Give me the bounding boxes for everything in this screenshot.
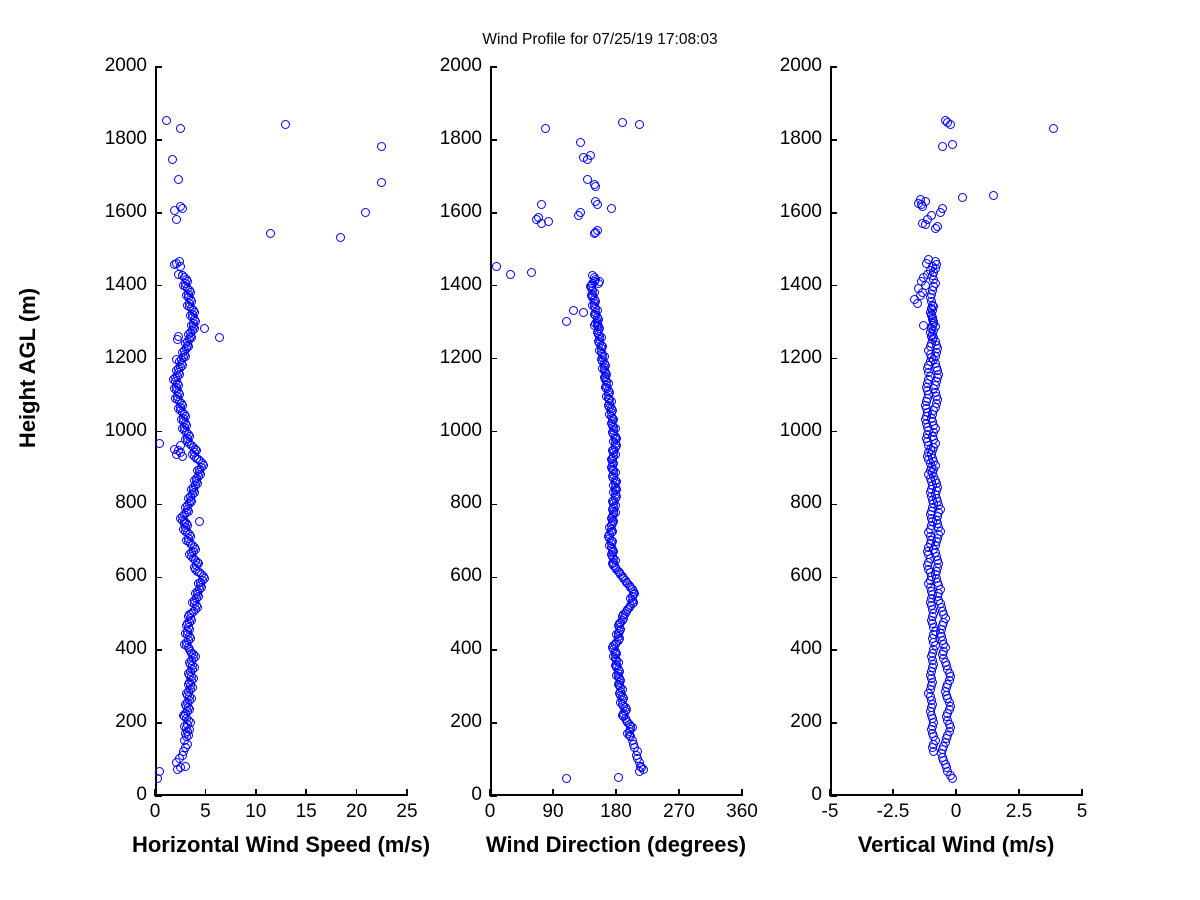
- y-tick-mark: [490, 577, 497, 579]
- data-point-marker: [377, 178, 386, 187]
- data-point-marker: [929, 302, 938, 311]
- y-tick-label: 200: [77, 711, 147, 733]
- data-point-marker: [989, 191, 998, 200]
- y-tick-mark: [155, 139, 162, 141]
- y-tick-label: 2000: [752, 55, 822, 77]
- y-tick-label: 1400: [412, 274, 482, 296]
- data-point-marker: [544, 217, 553, 226]
- data-point-marker: [576, 138, 585, 147]
- data-point-marker: [569, 306, 578, 315]
- y-tick-label: 600: [77, 565, 147, 587]
- data-point-marker: [583, 175, 592, 184]
- y-tick-mark: [155, 212, 162, 214]
- y-tick-label: 1000: [752, 420, 822, 442]
- x-axis-title: Vertical Wind (m/s): [858, 832, 1055, 858]
- x-tick-mark: [615, 789, 617, 796]
- panel-vertical-wind: 0200400600800100012001400160018002000-5-…: [830, 67, 1082, 796]
- x-tick-label: 0: [150, 801, 161, 823]
- y-tick-label: 200: [752, 711, 822, 733]
- data-point-marker: [174, 175, 183, 184]
- data-point-marker: [361, 208, 370, 217]
- y-tick-mark: [830, 431, 837, 433]
- y-tick-mark: [830, 66, 837, 68]
- x-tick-label: 180: [600, 801, 632, 823]
- x-tick-mark: [154, 789, 156, 796]
- x-tick-mark: [255, 789, 257, 796]
- wind-profile-figure: Wind Profile for 07/25/19 17:08:03 Heigh…: [0, 0, 1200, 900]
- data-point-marker: [919, 321, 928, 330]
- y-axis-title: Height AGL (m): [15, 108, 41, 628]
- data-point-marker: [492, 262, 501, 271]
- data-point-marker: [174, 270, 183, 279]
- y-tick-mark: [830, 795, 837, 797]
- x-tick-mark: [678, 789, 680, 796]
- y-tick-label: 1400: [752, 274, 822, 296]
- data-point-marker: [595, 277, 604, 286]
- y-tick-label: 1600: [77, 201, 147, 223]
- y-tick-label: 1800: [77, 128, 147, 150]
- y-tick-mark: [490, 139, 497, 141]
- data-point-marker: [562, 317, 571, 326]
- y-tick-mark: [490, 358, 497, 360]
- data-point-marker: [541, 124, 550, 133]
- data-point-marker: [579, 308, 588, 317]
- y-tick-mark: [830, 577, 837, 579]
- y-tick-label: 800: [77, 492, 147, 514]
- data-point-marker: [618, 118, 627, 127]
- y-tick-label: 600: [752, 565, 822, 587]
- data-point-marker: [281, 120, 290, 129]
- data-point-marker: [614, 773, 623, 782]
- x-tick-label: 15: [296, 801, 317, 823]
- plot-area-wind-direction: [490, 67, 742, 796]
- y-tick-mark: [490, 504, 497, 506]
- data-point-marker: [537, 200, 546, 209]
- y-tick-label: 2000: [77, 55, 147, 77]
- x-tick-label: 2.5: [1006, 801, 1032, 823]
- y-tick-label: 800: [412, 492, 482, 514]
- panel-wind-direction: 0200400600800100012001400160018002000090…: [490, 67, 742, 796]
- y-tick-mark: [155, 795, 162, 797]
- x-tick-label: -2.5: [877, 801, 910, 823]
- y-tick-label: 1800: [752, 128, 822, 150]
- y-tick-label: 1200: [77, 347, 147, 369]
- y-tick-label: 1200: [412, 347, 482, 369]
- y-tick-mark: [830, 504, 837, 506]
- data-point-marker: [938, 142, 947, 151]
- x-tick-label: 90: [542, 801, 563, 823]
- x-axis-title: Horizontal Wind Speed (m/s): [132, 832, 430, 858]
- y-tick-label: 1000: [77, 420, 147, 442]
- data-point-marker: [155, 767, 164, 776]
- y-tick-label: 800: [752, 492, 822, 514]
- data-point-marker: [562, 774, 571, 783]
- y-tick-mark: [490, 722, 497, 724]
- data-point-marker: [586, 151, 595, 160]
- y-tick-label: 400: [752, 638, 822, 660]
- y-tick-label: 400: [77, 638, 147, 660]
- data-point-marker: [916, 195, 925, 204]
- data-point-marker: [162, 116, 171, 125]
- x-tick-label: 0: [951, 801, 962, 823]
- x-tick-label: 270: [663, 801, 695, 823]
- data-point-marker: [635, 120, 644, 129]
- data-point-marker: [195, 517, 204, 526]
- x-tick-mark: [552, 789, 554, 796]
- data-point-marker: [1049, 124, 1058, 133]
- y-tick-mark: [830, 358, 837, 360]
- x-tick-mark: [829, 789, 831, 796]
- data-point-marker: [336, 233, 345, 242]
- data-point-marker: [593, 226, 602, 235]
- x-tick-mark: [741, 789, 743, 796]
- y-tick-mark: [830, 139, 837, 141]
- data-point-marker: [927, 211, 936, 220]
- y-tick-mark: [830, 212, 837, 214]
- y-tick-label: 1200: [752, 347, 822, 369]
- plot-area-horizontal-wind-speed: [155, 67, 407, 796]
- data-point-marker: [576, 208, 585, 217]
- data-point-marker: [176, 124, 185, 133]
- y-tick-mark: [490, 66, 497, 68]
- data-point-marker: [266, 229, 275, 238]
- y-tick-mark: [490, 431, 497, 433]
- data-point-marker: [178, 452, 187, 461]
- x-tick-mark: [305, 789, 307, 796]
- data-point-marker: [200, 324, 209, 333]
- data-point-marker: [607, 204, 616, 213]
- data-point-marker: [591, 197, 600, 206]
- y-tick-label: 1600: [412, 201, 482, 223]
- x-tick-mark: [406, 789, 408, 796]
- data-point-marker: [155, 439, 164, 448]
- y-tick-label: 0: [752, 784, 822, 806]
- y-tick-label: 400: [412, 638, 482, 660]
- data-point-marker: [172, 215, 181, 224]
- plot-area-vertical-wind: [830, 67, 1082, 796]
- x-tick-mark: [1018, 789, 1020, 796]
- data-point-marker: [958, 193, 967, 202]
- y-tick-mark: [830, 722, 837, 724]
- y-tick-mark: [155, 649, 162, 651]
- panel-horizontal-wind-speed: 0200400600800100012001400160018002000051…: [155, 67, 407, 796]
- y-tick-mark: [490, 649, 497, 651]
- data-point-marker: [933, 222, 942, 231]
- x-tick-label: 5: [1077, 801, 1088, 823]
- y-tick-mark: [155, 358, 162, 360]
- data-point-marker: [948, 140, 957, 149]
- x-tick-label: -5: [822, 801, 839, 823]
- x-tick-mark: [489, 789, 491, 796]
- data-point-marker: [215, 333, 224, 342]
- x-tick-mark: [205, 789, 207, 796]
- x-tick-label: 20: [346, 801, 367, 823]
- y-tick-mark: [155, 431, 162, 433]
- data-point-marker: [506, 270, 515, 279]
- data-point-marker: [527, 268, 536, 277]
- data-point-marker: [938, 204, 947, 213]
- x-tick-label: 5: [200, 801, 211, 823]
- y-tick-mark: [155, 285, 162, 287]
- x-tick-mark: [1081, 789, 1083, 796]
- y-tick-label: 1800: [412, 128, 482, 150]
- y-tick-label: 2000: [412, 55, 482, 77]
- y-tick-mark: [155, 577, 162, 579]
- y-tick-mark: [490, 212, 497, 214]
- data-point-marker: [181, 762, 190, 771]
- y-tick-mark: [155, 504, 162, 506]
- y-tick-mark: [830, 649, 837, 651]
- x-tick-label: 0: [485, 801, 496, 823]
- y-tick-mark: [490, 285, 497, 287]
- y-tick-mark: [155, 66, 162, 68]
- y-tick-label: 600: [412, 565, 482, 587]
- x-tick-mark: [955, 789, 957, 796]
- data-point-marker: [175, 257, 184, 266]
- y-tick-mark: [830, 285, 837, 287]
- y-tick-mark: [155, 722, 162, 724]
- y-tick-label: 0: [412, 784, 482, 806]
- data-point-marker: [168, 155, 177, 164]
- y-tick-label: 1600: [752, 201, 822, 223]
- figure-title: Wind Profile for 07/25/19 17:08:03: [0, 31, 1200, 49]
- x-tick-mark: [892, 789, 894, 796]
- y-tick-mark: [490, 795, 497, 797]
- x-tick-label: 10: [245, 801, 266, 823]
- y-tick-label: 200: [412, 711, 482, 733]
- y-tick-label: 1000: [412, 420, 482, 442]
- data-point-marker: [377, 142, 386, 151]
- x-axis-title: Wind Direction (degrees): [486, 832, 746, 858]
- y-tick-label: 0: [77, 784, 147, 806]
- x-tick-mark: [356, 789, 358, 796]
- y-tick-label: 1400: [77, 274, 147, 296]
